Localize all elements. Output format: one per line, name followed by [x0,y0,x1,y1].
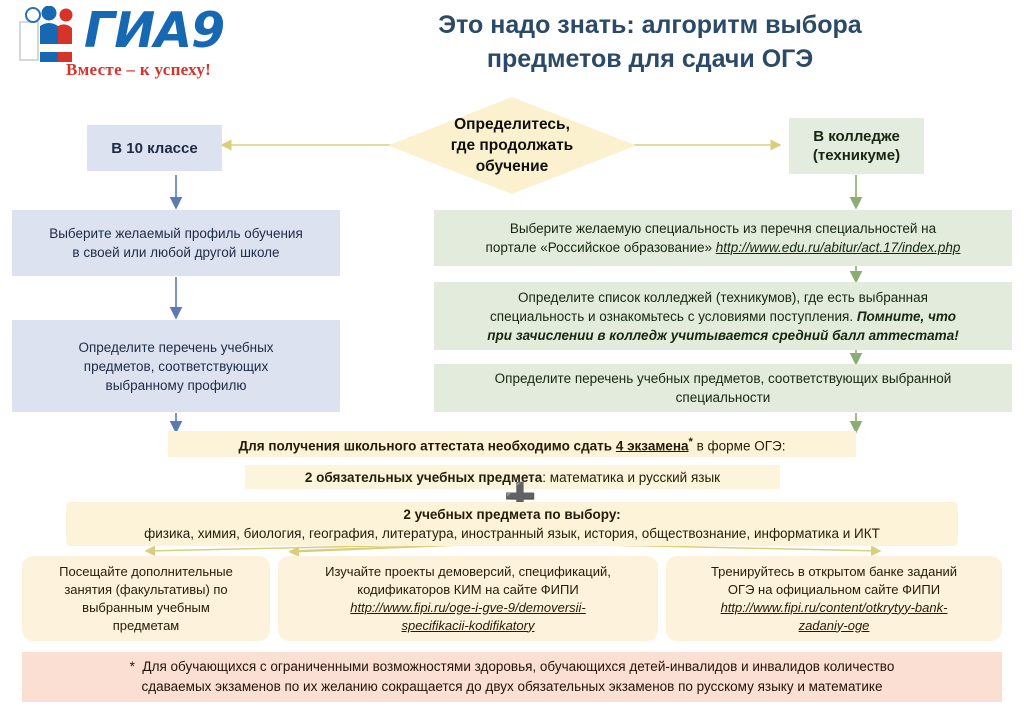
left-step-2-text: Определите перечень учебных предметов, с… [12,338,340,395]
choice-subjects-text: 2 учебных предмета по выбору: физика, хи… [66,505,958,543]
decision-line1: Определитесь, [451,114,573,135]
mandatory-subjects-rest: : математика и русский язык [542,470,720,485]
right-step-1-line2: портале «Российское образование» http://… [442,238,1004,257]
branch-right-line2: (техникуме) [797,146,916,165]
left-step-2-line3: выбранному профилю [20,376,332,395]
action-box-taskbank: Тренируйтесь в открытом банке заданий ОГ… [666,556,1002,641]
right-step-2-line1: Определите список колледжей (техникумов)… [442,288,1004,307]
choice-subjects-bar: 2 учебных предмета по выбору: физика, хи… [66,502,958,546]
footnote-line1: * Для обучающихся с ограниченными возмож… [46,657,978,677]
action-1-line4: предметам [30,617,262,635]
left-step-2-line1: Определите перечень учебных [20,338,332,357]
branch-right-text: В колледже (техникуме) [789,127,924,165]
right-step-1-line2-pre: портале «Российское образование» [486,240,716,255]
left-step-1-line2: в своей или любой другой школе [20,243,332,262]
certificate-bar-post: в форме ОГЭ: [693,438,786,453]
branch-left-label: В 10 классе [87,139,222,158]
right-step-2-line2: специальность и ознакомьтесь с условиями… [442,307,1004,326]
right-step-2-emphasis-b: при зачислении в колледж учитывается сре… [487,328,958,343]
right-step-1: Выберите желаемую специальность из переч… [434,210,1012,266]
action-1-line1: Посещайте дополнительные [30,563,262,581]
right-step-3-line1: Определите перечень учебных предметов, с… [442,369,1004,388]
decision-text: Определитесь, где продолжать обучение [451,114,573,177]
left-step-2-line2: предметов, соответствующих [20,357,332,376]
branch-right-line1: В колледже [797,127,916,146]
action-3-line2: ОГЭ на официальном сайте ФИПИ [674,581,994,599]
action-box-electives-text: Посещайте дополнительные занятия (факуль… [22,563,270,635]
left-step-1-text: Выберите желаемый профиль обучения в сво… [12,224,340,262]
right-step-1-line1: Выберите желаемую специальность из переч… [442,219,1004,238]
choice-subjects-heading: 2 учебных предмета по выбору: [74,505,950,524]
footnote-marker: * [130,659,135,674]
fipi-demoversions-link-part1[interactable]: http://www.fipi.ru/oge-i-gve-9/demoversi… [286,599,650,617]
right-step-2-emphasis-a: Помните, что [857,309,956,324]
right-step-2: Определите список колледжей (техникумов)… [434,282,1012,350]
left-step-2: Определите перечень учебных предметов, с… [12,320,340,412]
footnote-line2: сдаваемых экзаменов по их желанию сокращ… [46,677,978,697]
left-step-1: Выберите желаемый профиль обучения в сво… [12,210,340,276]
right-step-3-text: Определите перечень учебных предметов, с… [434,369,1012,407]
action-1-line3: выбранным учебным [30,599,262,617]
fipi-taskbank-link-part2[interactable]: zadaniy-oge [674,617,994,635]
right-step-2-line2-pre: специальность и ознакомьтесь с условиями… [490,309,857,324]
right-step-2-text: Определите список колледжей (техникумов)… [434,288,1012,345]
branch-right-college: В колледже (техникуме) [789,118,924,174]
action-box-electives: Посещайте дополнительные занятия (факуль… [22,556,270,641]
left-step-1-line1: Выберите желаемый профиль обучения [20,224,332,243]
action-box-demoversions-text: Изучайте проекты демоверсий, спецификаци… [278,563,658,635]
decision-line3: обучение [451,156,573,177]
action-1-line2: занятия (факультативы) по [30,581,262,599]
action-box-demoversions: Изучайте проекты демоверсий, спецификаци… [278,556,658,641]
footnote-text: * Для обучающихся с ограниченными возмож… [22,657,1002,697]
action-box-taskbank-text: Тренируйтесь в открытом банке заданий ОГ… [666,563,1002,635]
certificate-bar-text: Для получения школьного аттестата необхо… [168,433,856,456]
fipi-demoversions-link-part2[interactable]: specifikacii-kodifikatory [286,617,650,635]
action-2-line2: кодификаторов КИМ на сайте ФИПИ [286,581,650,599]
right-step-3: Определите перечень учебных предметов, с… [434,364,1012,412]
decision-line2: где продолжать [451,135,573,156]
right-step-3-line2: специальности [442,388,1004,407]
infographic-root: ГИА9 Вместе – к успеху! Это надо знать: … [0,0,1024,708]
right-step-2-line3: при зачислении в колледж учитывается сре… [442,326,1004,345]
right-step-1-text: Выберите желаемую специальность из переч… [434,219,1012,257]
edu-portal-link[interactable]: http://www.edu.ru/abitur/act.17/index.ph… [716,240,961,255]
choice-subjects-list: физика, химия, биология, география, лите… [74,524,950,543]
fipi-taskbank-link-part1[interactable]: http://www.fipi.ru/content/otkrytyy-bank… [674,599,994,617]
certificate-bar: Для получения школьного аттестата необхо… [168,431,856,457]
branch-left-grade10: В 10 классе [87,125,222,171]
certificate-bar-highlight: 4 экзамена [616,438,689,453]
footnote-line1-text: Для обучающихся с ограниченными возможно… [142,659,894,674]
action-2-line1: Изучайте проекты демоверсий, спецификаци… [286,563,650,581]
footnote-bar: * Для обучающихся с ограниченными возмож… [22,652,1002,702]
action-3-line1: Тренируйтесь в открытом банке заданий [674,563,994,581]
certificate-bar-pre: Для получения школьного аттестата необхо… [239,438,616,453]
